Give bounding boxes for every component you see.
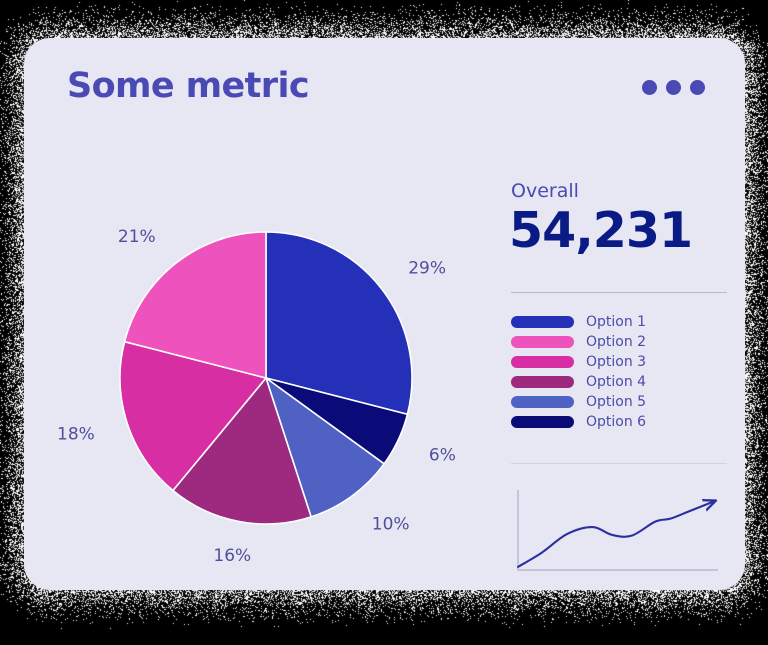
pie-slice-percentage-label: 16% — [213, 546, 251, 566]
legend-item-label: Option 6 — [586, 414, 646, 430]
legend-color-swatch — [511, 356, 574, 368]
legend-item[interactable]: Option 2 — [511, 332, 727, 352]
metric-card: Some metric 29%6%10%16%18%21% Overall 54… — [24, 38, 745, 590]
chart-legend: Option 1Option 2Option 3Option 4Option 5… — [511, 312, 727, 432]
legend-item[interactable]: Option 3 — [511, 352, 727, 372]
pie-slice-group — [120, 232, 412, 524]
legend-divider — [511, 292, 727, 293]
pie-slice-percentage-label: 21% — [118, 227, 156, 247]
sparkline-divider — [511, 463, 727, 464]
pie-slice-percentage-label: 6% — [429, 446, 456, 466]
pie-slice-percentage-label: 29% — [408, 259, 446, 279]
page-title: Some metric — [67, 66, 309, 106]
legend-item-label: Option 3 — [586, 354, 646, 370]
three-dots-icon-dot-3 — [690, 80, 705, 95]
legend-color-swatch — [511, 316, 574, 328]
legend-item-label: Option 2 — [586, 334, 646, 350]
pie-slice-percentage-label: 10% — [372, 515, 410, 535]
legend-color-swatch — [511, 396, 574, 408]
three-dots-icon-dot-1 — [642, 80, 657, 95]
sparkline-path — [518, 501, 714, 567]
overall-label: Overall — [511, 180, 579, 202]
legend-item[interactable]: Option 6 — [511, 412, 727, 432]
overall-value: 54,231 — [509, 202, 692, 259]
trend-sparkline[interactable] — [506, 478, 726, 578]
pie-chart[interactable]: 29%6%10%16%18%21% — [44, 130, 464, 580]
legend-item-label: Option 1 — [586, 314, 646, 330]
more-menu-button[interactable] — [642, 80, 705, 95]
sparkline-axes — [518, 490, 718, 570]
legend-item[interactable]: Option 1 — [511, 312, 727, 332]
pie-chart-panel: 29%6%10%16%18%21% — [44, 130, 464, 580]
legend-color-swatch — [511, 336, 574, 348]
pie-slice-percentage-label: 18% — [57, 425, 95, 445]
legend-color-swatch — [511, 376, 574, 388]
legend-item-label: Option 4 — [586, 374, 646, 390]
legend-color-swatch — [511, 416, 574, 428]
summary-panel: Overall 54,231 Option 1Option 2Option 3O… — [486, 130, 726, 580]
legend-item-label: Option 5 — [586, 394, 646, 410]
card-header: Some metric — [24, 38, 745, 130]
legend-item[interactable]: Option 4 — [511, 372, 727, 392]
sparkline-panel — [506, 478, 726, 578]
legend-item[interactable]: Option 5 — [511, 392, 727, 412]
three-dots-icon-dot-2 — [666, 80, 681, 95]
